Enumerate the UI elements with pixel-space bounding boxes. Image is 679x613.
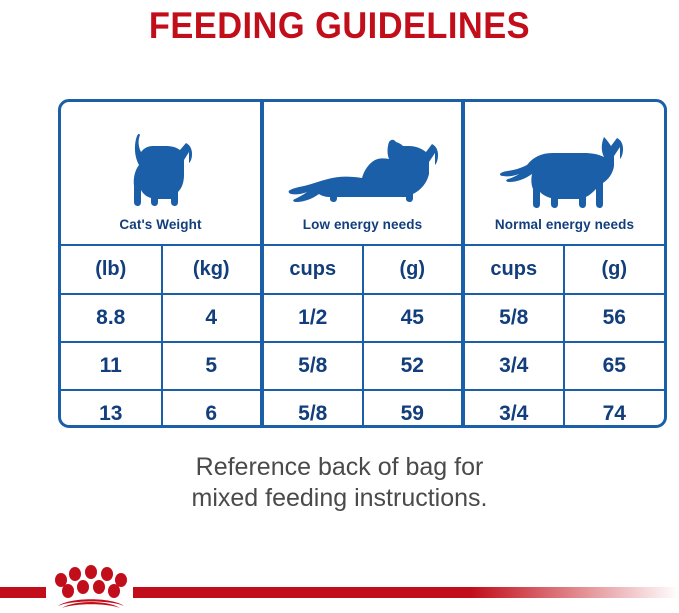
lying-cat-icon	[288, 122, 438, 210]
page-title: FEEDING GUIDELINES	[24, 0, 655, 52]
unit-cell-kg: (kg)	[162, 245, 263, 294]
table-row: 13 6 5/8 59 3/4 74	[61, 390, 664, 428]
unit-cell-low-cups: cups	[262, 245, 363, 294]
brand-footer	[0, 556, 679, 608]
cell-normal-grams: 56	[564, 294, 665, 342]
brand-bar-left	[0, 587, 46, 598]
cell-low-cups: 1/2	[262, 294, 363, 342]
cell-weight-lb: 11	[61, 342, 162, 390]
header-label-cats-weight: Cat's Weight	[119, 217, 201, 232]
cell-low-cups: 5/8	[262, 390, 363, 428]
brand-bar-right	[133, 587, 679, 598]
table-header-row: Cat's Weight Low energy needs	[61, 102, 664, 245]
cell-normal-grams: 74	[564, 390, 665, 428]
header-cell-normal-energy: Normal energy needs	[463, 102, 664, 245]
unit-cell-lb: (lb)	[61, 245, 162, 294]
table-unit-row: (lb) (kg) cups (g) cups (g)	[61, 245, 664, 294]
reference-note: Reference back of bag for mixed feeding …	[0, 452, 679, 514]
cell-weight-kg: 4	[162, 294, 263, 342]
header-label-normal-energy: Normal energy needs	[495, 217, 634, 232]
header-cell-low-energy: Low energy needs	[262, 102, 463, 245]
cell-normal-cups: 3/4	[463, 342, 564, 390]
standing-cat-icon	[125, 122, 197, 210]
cell-weight-lb: 13	[61, 390, 162, 428]
walking-cat-icon	[500, 122, 630, 210]
cell-normal-cups: 3/4	[463, 390, 564, 428]
unit-cell-normal-grams: (g)	[564, 245, 665, 294]
reference-note-line-2: mixed feeding instructions.	[0, 483, 679, 514]
cell-weight-kg: 5	[162, 342, 263, 390]
cell-normal-cups: 5/8	[463, 294, 564, 342]
cell-normal-grams: 65	[564, 342, 665, 390]
royal-canin-crown-logo	[50, 564, 132, 608]
cell-weight-kg: 6	[162, 390, 263, 428]
cell-low-grams: 59	[363, 390, 464, 428]
cell-weight-lb: 8.8	[61, 294, 162, 342]
cell-low-grams: 45	[363, 294, 464, 342]
cell-low-grams: 52	[363, 342, 464, 390]
unit-cell-normal-cups: cups	[463, 245, 564, 294]
cell-low-cups: 5/8	[262, 342, 363, 390]
header-cell-cats-weight: Cat's Weight	[61, 102, 262, 245]
reference-note-line-1: Reference back of bag for	[0, 452, 679, 483]
unit-cell-low-grams: (g)	[363, 245, 464, 294]
table-row: 11 5 5/8 52 3/4 65	[61, 342, 664, 390]
header-label-low-energy: Low energy needs	[303, 217, 422, 232]
feeding-guidelines-table: Cat's Weight Low energy needs	[58, 99, 667, 428]
table-row: 8.8 4 1/2 45 5/8 56	[61, 294, 664, 342]
